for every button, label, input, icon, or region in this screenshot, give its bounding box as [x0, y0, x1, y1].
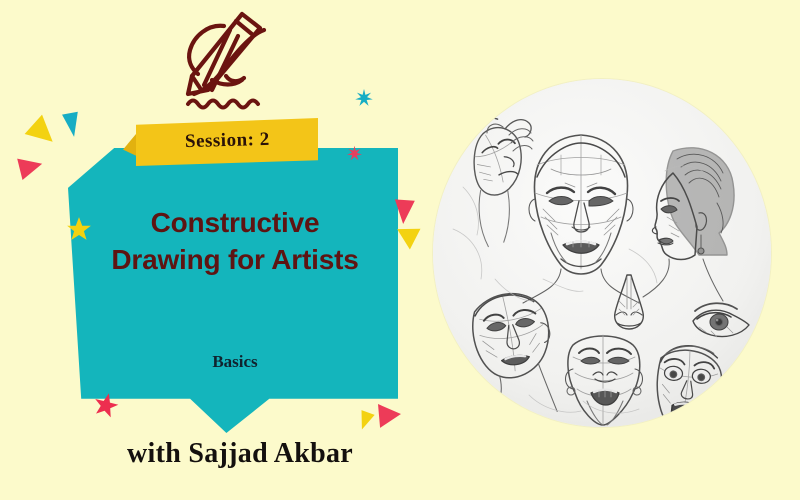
- sketch-illustration: [433, 79, 771, 427]
- star-red-on-banner: [346, 145, 363, 162]
- title-line-1: Constructive: [70, 205, 400, 242]
- star-teal-top-right: [354, 88, 374, 108]
- artwork-circle: [433, 79, 771, 427]
- course-poster: Session: 2 Constructive Drawing for Arti…: [0, 0, 800, 500]
- teal-banner: [68, 148, 398, 433]
- title-line-2: Drawing for Artists: [70, 242, 400, 279]
- triangle-yellow-bottom-right: [355, 410, 374, 432]
- subtitle: Basics: [70, 352, 400, 372]
- triangle-yellow-top-left: [25, 115, 62, 152]
- triangle-red-bottom-right: [378, 402, 402, 428]
- page-title: Constructive Drawing for Artists: [70, 205, 400, 279]
- session-label: Session: 2: [184, 129, 269, 153]
- session-badge: Session: 2: [136, 118, 318, 166]
- star-yellow-left: [66, 216, 92, 242]
- triangle-red-top-left: [17, 153, 45, 180]
- star-red-bottom-left: [93, 392, 119, 418]
- presenter-name: with Sajjad Akbar: [40, 438, 440, 470]
- triangle-teal-top-left: [62, 112, 82, 138]
- pencil-drawing-icon: [168, 6, 280, 110]
